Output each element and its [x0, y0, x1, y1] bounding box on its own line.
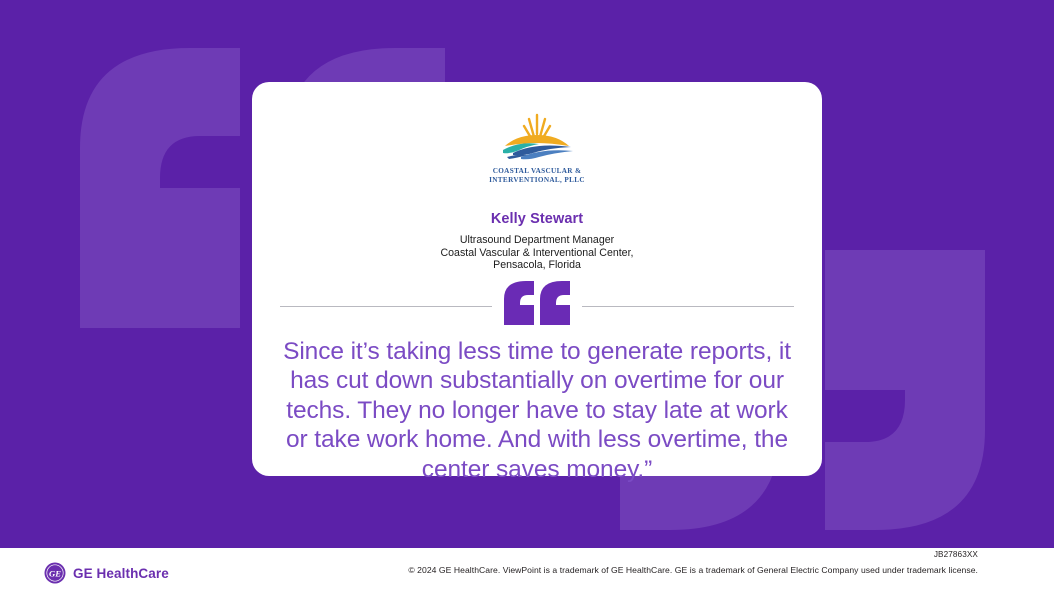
practice-logo-wordmark-line1: Coastal Vascular & [489, 167, 585, 176]
practice-logo-wordmark: Coastal Vascular & Interventional, PLLC [489, 167, 585, 184]
person-role: Ultrasound Department Manager Coastal Va… [280, 234, 794, 272]
quote-divider [280, 289, 794, 325]
person-role-line2: Coastal Vascular & Interventional Center… [280, 247, 794, 260]
slide-canvas: Coastal Vascular & Interventional, PLLC … [0, 0, 1054, 593]
person-name: Kelly Stewart [280, 210, 794, 228]
document-code: JB27863XX [934, 550, 978, 559]
testimonial-card: Coastal Vascular & Interventional, PLLC … [252, 82, 822, 476]
practice-logo-wordmark-line2: Interventional, PLLC [489, 176, 585, 185]
slide-background: Coastal Vascular & Interventional, PLLC … [0, 0, 1054, 548]
legal-text: © 2024 GE HealthCare. ViewPoint is a tra… [408, 565, 978, 575]
person-role-line1: Ultrasound Department Manager [280, 234, 794, 247]
coastal-vascular-sun-waves-logo [483, 110, 591, 164]
divider-rule-right [582, 306, 794, 307]
person-role-line3: Pensacola, Florida [280, 259, 794, 272]
ge-monogram-icon: GE [44, 562, 66, 584]
quote-text: Since it’s taking less time to generate … [280, 337, 794, 485]
divider-rule-left [280, 306, 492, 307]
practice-logo: Coastal Vascular & Interventional, PLLC [280, 110, 794, 184]
attribution-block: Kelly Stewart Ultrasound Department Mana… [280, 210, 794, 272]
ge-healthcare-wordmark: GE HealthCare [73, 566, 169, 581]
opening-double-quote-icon [501, 279, 573, 325]
svg-text:GE: GE [49, 569, 61, 579]
ge-healthcare-logo: GE GE HealthCare [44, 562, 169, 584]
